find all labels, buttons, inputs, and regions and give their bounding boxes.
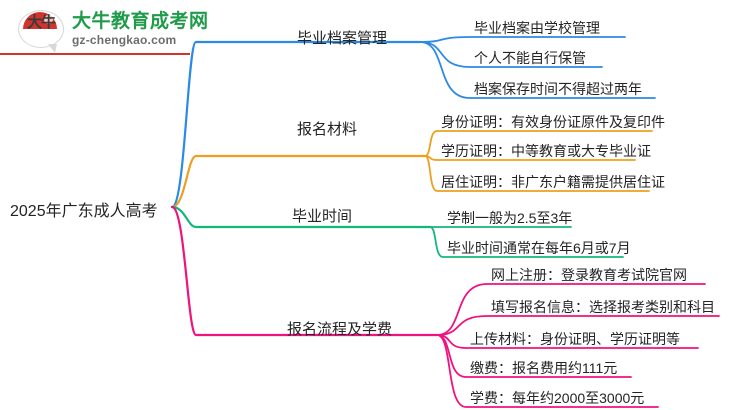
- leaf-node-4-5[interactable]: 学费：每年约2000至3000元: [470, 388, 644, 408]
- leaf-node-2-3[interactable]: 居住证明：非广东户籍需提供居住证: [441, 172, 665, 192]
- leaf-node-3-2[interactable]: 毕业时间通常在每年6月或7月: [447, 238, 631, 258]
- leaf-node-3-1[interactable]: 学制一般为2.5至3年: [447, 208, 572, 228]
- logo-emblem-icon: 大牛: [18, 8, 64, 50]
- logo-divider: [0, 53, 190, 55]
- branch-node-1[interactable]: 毕业档案管理: [297, 27, 387, 48]
- logo-title: 大牛教育成考网: [72, 12, 209, 32]
- leaf-node-2-2[interactable]: 学历证明：中等教育或大专毕业证: [441, 141, 651, 161]
- logo-mark-text: 大牛: [22, 16, 60, 30]
- leaf-node-4-4[interactable]: 缴费：报名费用约111元: [470, 358, 617, 378]
- branch-connector-2: [172, 156, 425, 207]
- leaf-node-4-1[interactable]: 网上注册：登录教育考试院官网: [491, 265, 687, 285]
- leaf-node-1-2[interactable]: 个人不能自行保管: [474, 48, 586, 68]
- branch-connector-4: [172, 207, 437, 335]
- branch-node-2[interactable]: 报名材料: [297, 118, 357, 139]
- logo-wordmark: 大牛教育成考网 gz-chengkao.com: [72, 12, 209, 47]
- leaf-node-4-2[interactable]: 填写报名信息：选择报考类别和科目: [491, 297, 715, 317]
- branch-connector-1: [172, 42, 420, 207]
- leaf-node-2-1[interactable]: 身份证明：有效身份证原件及复印件: [441, 112, 665, 132]
- mindmap-root-node[interactable]: 2025年广东成人高考: [10, 197, 158, 221]
- site-logo: 大牛 大牛教育成考网 gz-chengkao.com: [18, 8, 209, 50]
- leaf-node-4-3[interactable]: 上传材料：身份证明、学历证明等: [470, 329, 680, 349]
- leaf-node-1-3[interactable]: 档案保存时间不得超过两年: [474, 79, 642, 99]
- leaf-node-1-1[interactable]: 毕业档案由学校管理: [474, 18, 600, 38]
- mindmap-canvas: 大牛 大牛教育成考网 gz-chengkao.com 2025年广东成人高考 毕…: [0, 0, 750, 410]
- logo-domain: gz-chengkao.com: [72, 34, 209, 47]
- branch-node-3[interactable]: 毕业时间: [292, 205, 352, 226]
- branch-node-4[interactable]: 报名流程及学费: [287, 318, 392, 339]
